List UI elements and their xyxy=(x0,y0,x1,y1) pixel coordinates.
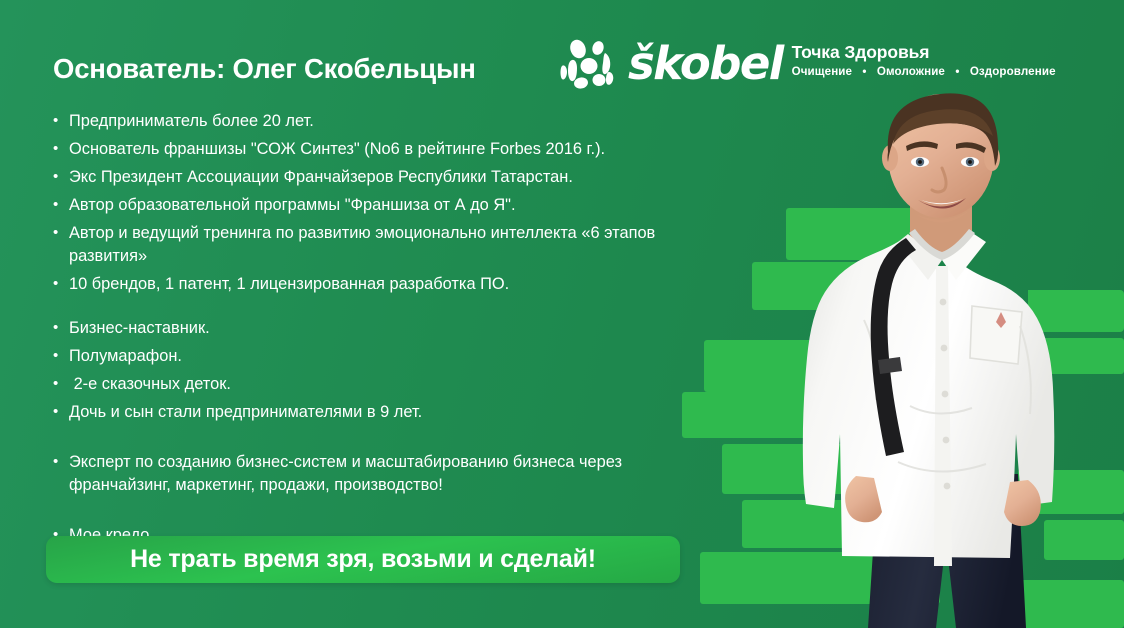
presentation-slide: škobel Точка Здоровья Очищение • Омоложн… xyxy=(0,0,1124,628)
list-item: Полумарафон. xyxy=(53,345,693,368)
list-item: Основатель франшизы "СОЖ Синтез" (No6 в … xyxy=(53,138,693,161)
list-item: 10 брендов, 1 патент, 1 лицензированная … xyxy=(53,273,693,296)
brand-wordmark: škobel xyxy=(628,42,783,86)
brand-tagline-services: Очищение • Омоложние • Оздоровление xyxy=(792,65,1056,78)
skobel-sphere-logo-icon xyxy=(556,36,622,98)
bullet-group-achievements: Предприниматель более 20 лет. Основатель… xyxy=(53,110,693,296)
list-item: Автор образовательной программы "Франшиз… xyxy=(53,194,693,217)
list-item: Дочь и сын стали предпринимателями в 9 л… xyxy=(53,401,693,424)
list-item: Экс Президент Ассоциации Франчайзеров Ре… xyxy=(53,166,693,189)
group-spacer xyxy=(53,502,693,524)
list-item: Эксперт по созданию бизнес-систем и масш… xyxy=(53,451,693,497)
service-3: Оздоровление xyxy=(970,65,1056,78)
founder-photo xyxy=(760,70,1124,628)
separator-dot-icon: • xyxy=(955,65,959,78)
separator-dot-icon: • xyxy=(862,65,866,78)
brand-logo: škobel Точка Здоровья Очищение • Омоложн… xyxy=(556,34,1056,98)
slogan-banner: Не трать время зря, возьми и сделай! xyxy=(46,536,680,583)
list-item: 2-е сказочных деток. xyxy=(53,373,693,396)
bullet-group-personal: Бизнес-наставник. Полумарафон. 2-е сказо… xyxy=(53,317,693,424)
slogan-text: Не трать время зря, возьми и сделай! xyxy=(130,545,596,574)
service-1: Очищение xyxy=(792,65,852,78)
brand-tagline: Точка Здоровья Очищение • Омоложние • Оз… xyxy=(792,42,1056,78)
group-spacer xyxy=(53,429,693,451)
service-2: Омоложние xyxy=(877,65,945,78)
group-spacer xyxy=(53,301,693,317)
founder-portrait-illustration xyxy=(760,70,1124,628)
bullet-group-expertise: Эксперт по созданию бизнес-систем и масш… xyxy=(53,451,693,497)
brand-tagline-main: Точка Здоровья xyxy=(792,42,1056,62)
slide-content: Основатель: Олег Скобельцын Предпринимат… xyxy=(53,54,693,552)
list-item: Предприниматель более 20 лет. xyxy=(53,110,693,133)
list-item: Бизнес-наставник. xyxy=(53,317,693,340)
list-item: Автор и ведущий тренинга по развитию эмо… xyxy=(53,222,693,268)
strap-buckle xyxy=(878,357,902,374)
